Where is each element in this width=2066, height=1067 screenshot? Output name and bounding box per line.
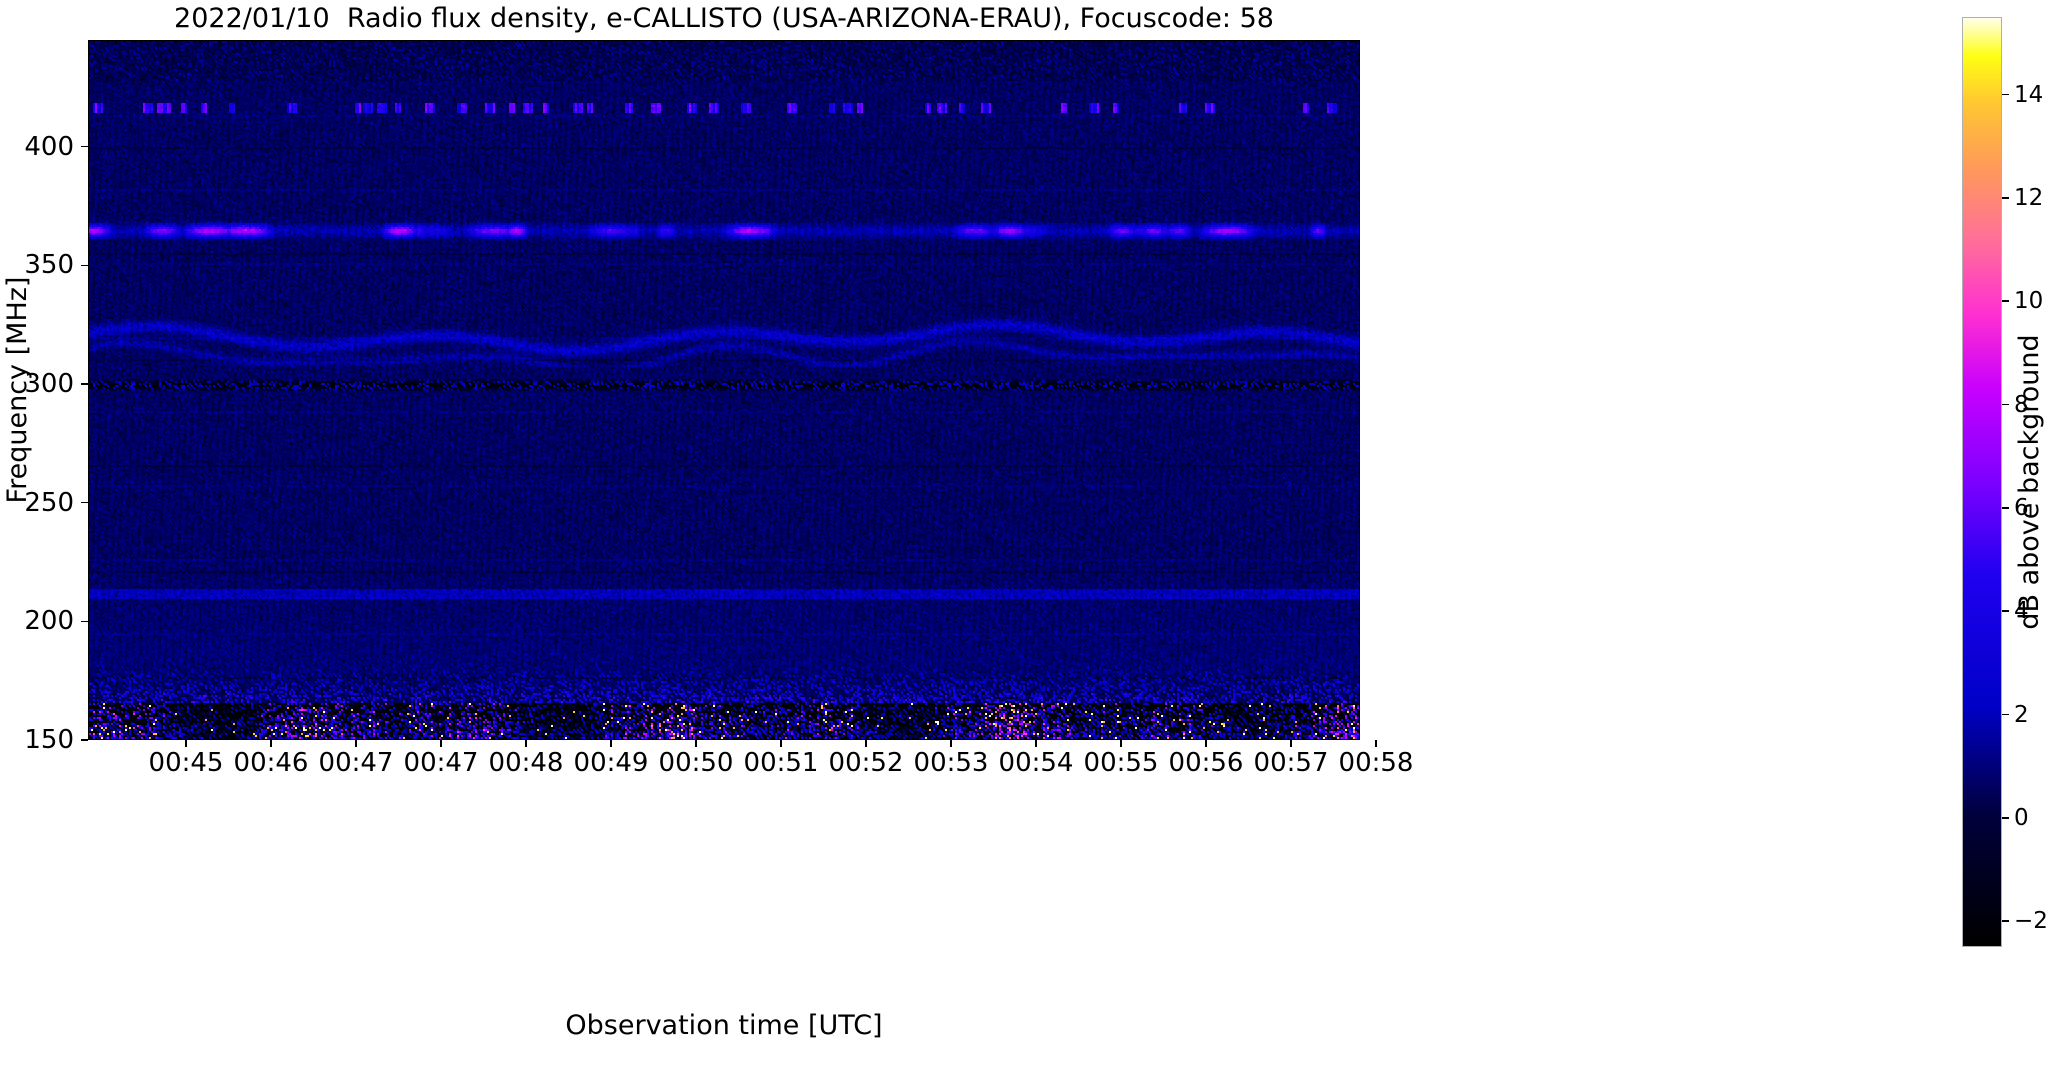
- colorbar-tick-mark: [2002, 507, 2009, 508]
- colorbar-label: dB above background: [2013, 272, 2047, 692]
- x-tick-label: 00:54: [999, 748, 1074, 778]
- x-tick-mark: [1120, 740, 1121, 747]
- y-tick-mark: [81, 621, 88, 622]
- colorbar-tick-label: 2: [2014, 702, 2029, 728]
- x-tick-label: 00:46: [234, 748, 309, 778]
- x-tick-label: 00:48: [489, 748, 564, 778]
- colorbar-tick-label: 12: [2014, 185, 2043, 211]
- x-tick-label: 00:49: [574, 748, 649, 778]
- colorbar-tick-mark: [2002, 714, 2009, 715]
- y-tick-mark: [81, 502, 88, 503]
- x-tick-mark: [695, 740, 696, 747]
- x-tick-label: 00:51: [744, 748, 819, 778]
- y-tick-mark: [81, 383, 88, 384]
- x-tick-label: 00:47: [319, 748, 394, 778]
- y-tick-label: 200: [0, 606, 74, 636]
- colorbar-tick-mark: [2002, 404, 2009, 405]
- x-tick-mark: [355, 740, 356, 747]
- colorbar-tick-mark: [2002, 94, 2009, 95]
- x-tick-label: 00:58: [1339, 748, 1414, 778]
- spectrogram-axes[interactable]: [88, 40, 1360, 740]
- colorbar-tick-mark: [2002, 300, 2009, 301]
- spectrogram-figure: 2022/01/10 Radio flux density, e-CALLIST…: [0, 0, 2066, 1067]
- x-tick-mark: [1375, 740, 1376, 747]
- y-tick-label: 150: [0, 725, 74, 755]
- x-tick-label: 00:47: [404, 748, 479, 778]
- colorbar-tick-mark: [2002, 817, 2009, 818]
- colorbar-tick-mark: [2002, 197, 2009, 198]
- x-axis-label: Observation time [UTC]: [88, 1010, 1360, 1041]
- y-tick-mark: [81, 739, 88, 740]
- x-tick-label: 00:52: [829, 748, 904, 778]
- x-tick-label: 00:55: [1084, 748, 1159, 778]
- colorbar-tick-mark: [2002, 610, 2009, 611]
- x-tick-mark: [1205, 740, 1206, 747]
- x-tick-mark: [1035, 740, 1036, 747]
- colorbar-gradient: [1963, 18, 2001, 946]
- x-tick-mark: [525, 740, 526, 747]
- colorbar-tick-label: 0: [2014, 805, 2029, 831]
- x-tick-label: 00:50: [659, 748, 734, 778]
- x-tick-mark: [1290, 740, 1291, 747]
- y-tick-mark: [81, 265, 88, 266]
- x-tick-label: 00:56: [1169, 748, 1244, 778]
- x-tick-label: 00:45: [149, 748, 224, 778]
- colorbar-tick-label: 14: [2014, 82, 2043, 108]
- x-tick-mark: [865, 740, 866, 747]
- y-axis-label: Frequency [MHz]: [0, 240, 36, 540]
- spectrogram-image[interactable]: [89, 41, 1360, 740]
- x-tick-label: 00:57: [1254, 748, 1329, 778]
- colorbar-tick-label: −2: [2014, 908, 2048, 934]
- y-tick-label: 400: [0, 132, 74, 162]
- x-tick-mark: [440, 740, 441, 747]
- x-tick-mark: [780, 740, 781, 747]
- x-tick-mark: [270, 740, 271, 747]
- y-tick-mark: [81, 146, 88, 147]
- colorbar[interactable]: [1962, 17, 2002, 947]
- x-tick-mark: [185, 740, 186, 747]
- colorbar-tick-mark: [2002, 920, 2009, 921]
- figure-title: 2022/01/10 Radio flux density, e-CALLIST…: [88, 2, 1360, 36]
- x-tick-mark: [950, 740, 951, 747]
- x-tick-mark: [610, 740, 611, 747]
- x-tick-label: 00:53: [914, 748, 989, 778]
